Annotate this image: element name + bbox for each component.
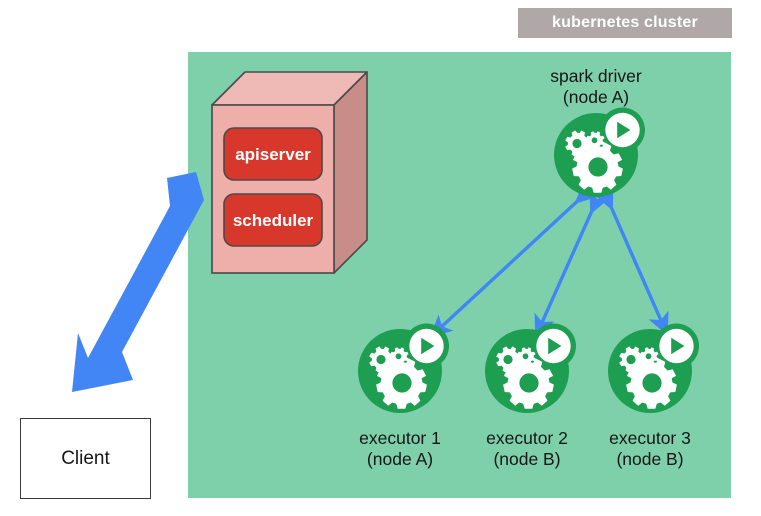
cube-side-face bbox=[334, 72, 367, 273]
kubernetes-cluster-banner-label: kubernetes cluster bbox=[552, 14, 698, 32]
diagram-canvas: kubernetes cluster apiserver scheduler s… bbox=[0, 0, 761, 516]
scheduler-box bbox=[224, 194, 322, 246]
spark-submit-arrow bbox=[72, 172, 204, 392]
client-label: Client bbox=[61, 448, 110, 470]
client-box: Client bbox=[20, 418, 151, 499]
apiserver-box bbox=[224, 128, 322, 180]
control-plane-cube bbox=[212, 72, 367, 273]
kubernetes-cluster-banner: kubernetes cluster bbox=[518, 8, 732, 38]
